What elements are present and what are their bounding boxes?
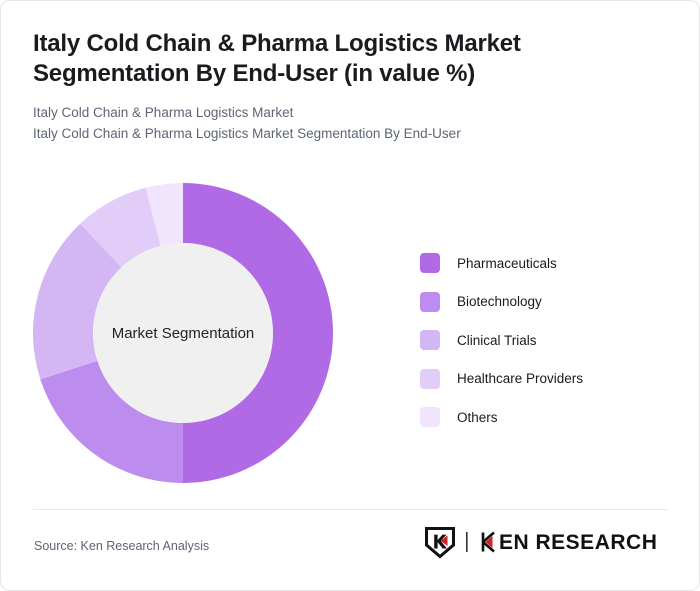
chart-card: Italy Cold Chain & Pharma Logistics Mark… bbox=[0, 0, 700, 591]
chart-legend: PharmaceuticalsBiotechnologyClinical Tri… bbox=[420, 244, 670, 437]
chart-area: Market Segmentation PharmaceuticalsBiote… bbox=[1, 161, 700, 501]
legend-item[interactable]: Healthcare Providers bbox=[420, 360, 670, 399]
subtitle-line-1: Italy Cold Chain & Pharma Logistics Mark… bbox=[33, 103, 667, 124]
legend-swatch bbox=[420, 253, 440, 273]
logo-wordmark: EN RESEARCH bbox=[477, 529, 669, 555]
ken-research-shield-icon bbox=[423, 525, 457, 559]
donut-center-label: Market Segmentation bbox=[112, 325, 255, 342]
legend-item[interactable]: Others bbox=[420, 398, 670, 437]
page-title: Italy Cold Chain & Pharma Logistics Mark… bbox=[33, 29, 573, 90]
legend-swatch bbox=[420, 369, 440, 389]
legend-label: Others bbox=[457, 411, 498, 425]
donut-svg: Market Segmentation bbox=[33, 183, 333, 483]
header: Italy Cold Chain & Pharma Logistics Mark… bbox=[33, 29, 667, 145]
legend-item[interactable]: Pharmaceuticals bbox=[420, 244, 670, 283]
donut-chart: Market Segmentation bbox=[33, 183, 333, 483]
subtitle-group: Italy Cold Chain & Pharma Logistics Mark… bbox=[33, 103, 667, 145]
legend-swatch bbox=[420, 292, 440, 312]
legend-item[interactable]: Clinical Trials bbox=[420, 321, 670, 360]
legend-swatch bbox=[420, 330, 440, 350]
legend-label: Biotechnology bbox=[457, 295, 542, 309]
source-note: Source: Ken Research Analysis bbox=[34, 539, 209, 553]
legend-label: Clinical Trials bbox=[457, 334, 537, 348]
svg-text:EN RESEARCH: EN RESEARCH bbox=[499, 531, 657, 554]
footer-divider bbox=[33, 509, 667, 510]
legend-item[interactable]: Biotechnology bbox=[420, 283, 670, 322]
subtitle-line-2: Italy Cold Chain & Pharma Logistics Mark… bbox=[33, 124, 667, 145]
legend-label: Healthcare Providers bbox=[457, 372, 583, 386]
legend-label: Pharmaceuticals bbox=[457, 257, 557, 271]
legend-swatch bbox=[420, 407, 440, 427]
ken-research-logo: EN RESEARCH bbox=[423, 524, 669, 560]
